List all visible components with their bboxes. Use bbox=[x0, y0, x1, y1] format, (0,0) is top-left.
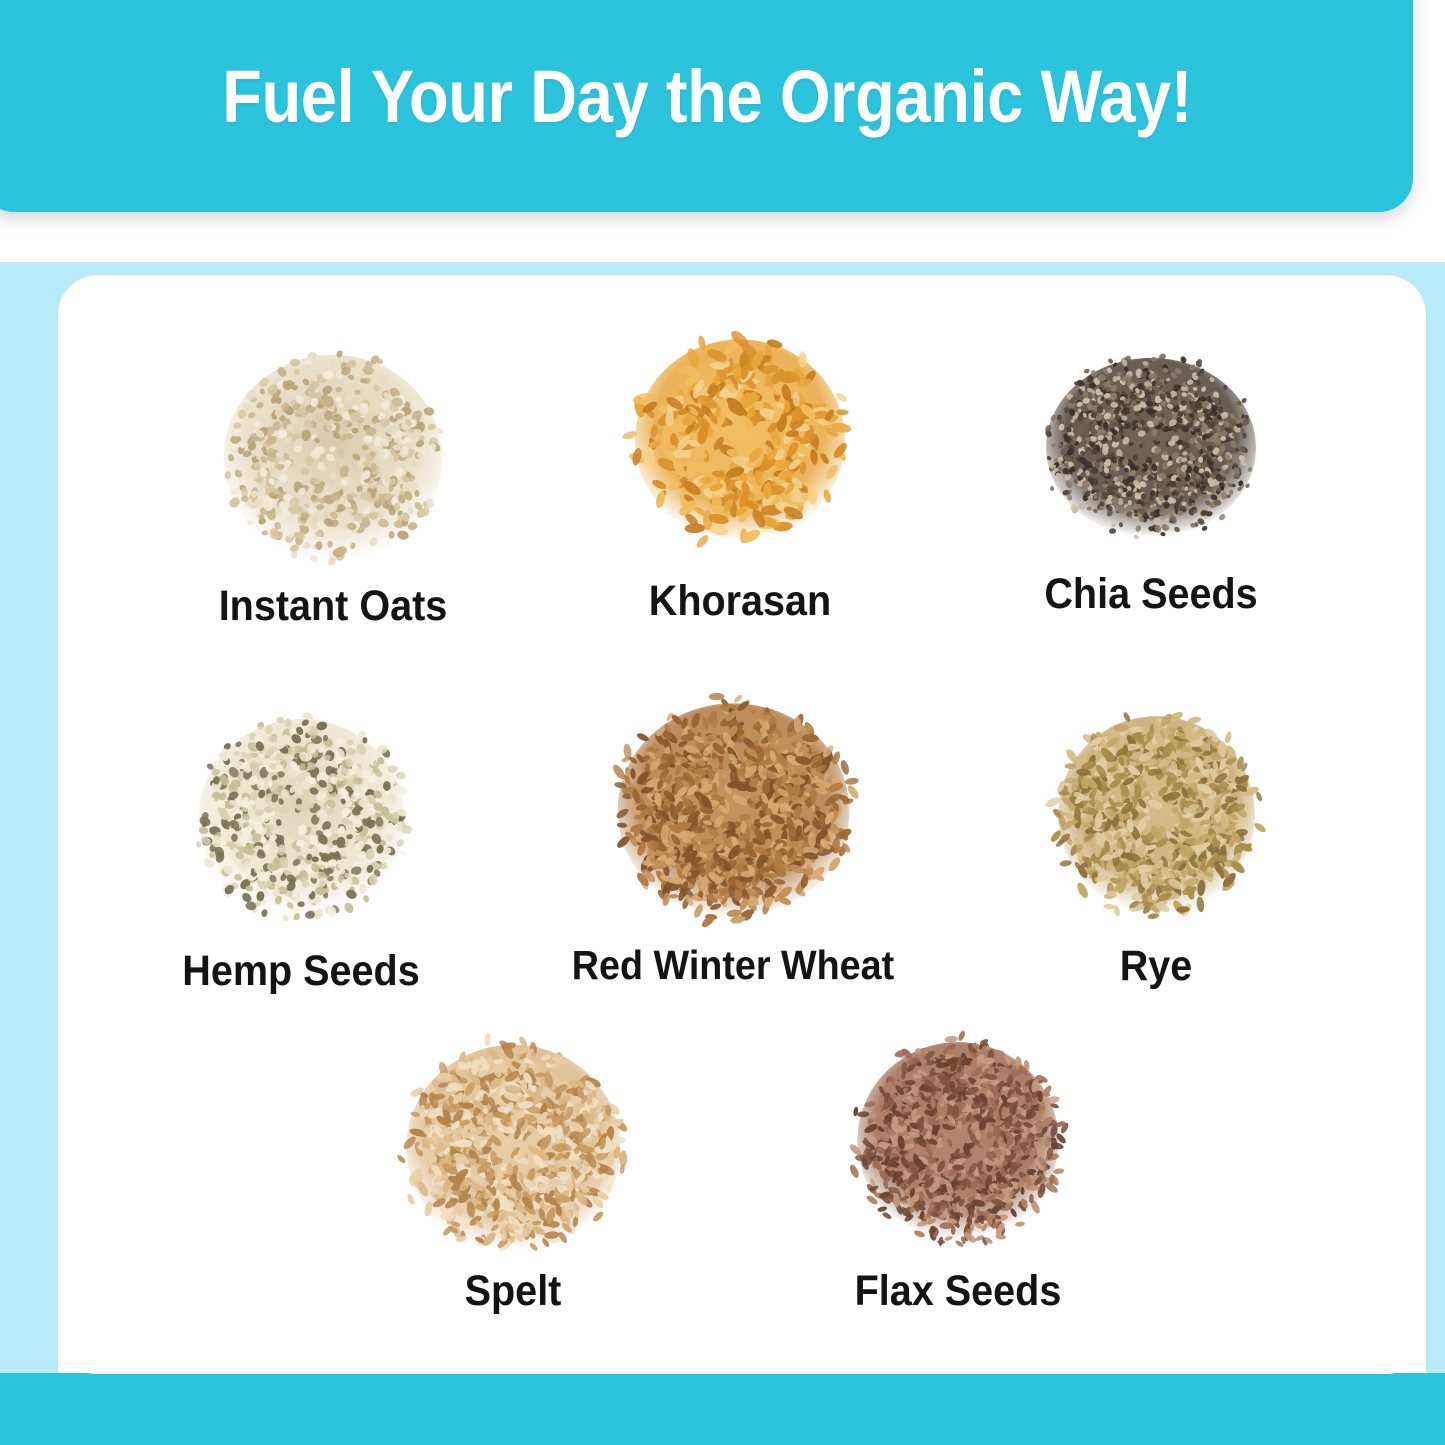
grain-label: Spelt bbox=[465, 1270, 562, 1313]
grain-pile-icon bbox=[1031, 345, 1271, 550]
grain-grid: Instant OatsKhorasanChia SeedsHemp Seeds… bbox=[58, 290, 1426, 1370]
grain-label: Chia Seeds bbox=[1044, 573, 1257, 616]
grain-label: Flax Seeds bbox=[855, 1270, 1062, 1313]
grain-cell[interactable]: Chia Seeds bbox=[1031, 345, 1271, 550]
grain-pile-icon bbox=[184, 705, 419, 930]
grain-pile-icon bbox=[208, 340, 458, 575]
grain-label: Instant Oats bbox=[219, 585, 448, 628]
promo-image-root: Fuel Your Day the Organic Way! Instant O… bbox=[0, 0, 1445, 1445]
grain-cell[interactable]: Instant Oats bbox=[208, 340, 458, 575]
grain-cell[interactable]: Hemp Seeds bbox=[184, 705, 419, 930]
page-title: Fuel Your Day the Organic Way! bbox=[223, 60, 1193, 134]
grain-pile-icon bbox=[391, 1030, 636, 1265]
grain-pile-icon bbox=[620, 325, 860, 555]
grain-label: Khorasan bbox=[649, 580, 831, 623]
bottom-accent-bar bbox=[0, 1373, 1445, 1445]
grain-pile-icon bbox=[601, 688, 866, 933]
grain-cell[interactable]: Flax Seeds bbox=[843, 1028, 1073, 1253]
header-banner: Fuel Your Day the Organic Way! bbox=[0, 0, 1413, 212]
grain-pile-icon bbox=[843, 1028, 1073, 1253]
grain-cell[interactable]: Khorasan bbox=[620, 325, 860, 555]
grain-label: Rye bbox=[1120, 945, 1193, 988]
grain-cell[interactable]: Rye bbox=[1044, 702, 1269, 927]
grain-cell[interactable]: Red Winter Wheat bbox=[601, 688, 866, 933]
grain-pile-icon bbox=[1044, 702, 1269, 927]
grain-cell[interactable]: Spelt bbox=[391, 1030, 636, 1265]
grain-label: Hemp Seeds bbox=[182, 950, 419, 993]
grain-label: Red Winter Wheat bbox=[572, 945, 894, 986]
